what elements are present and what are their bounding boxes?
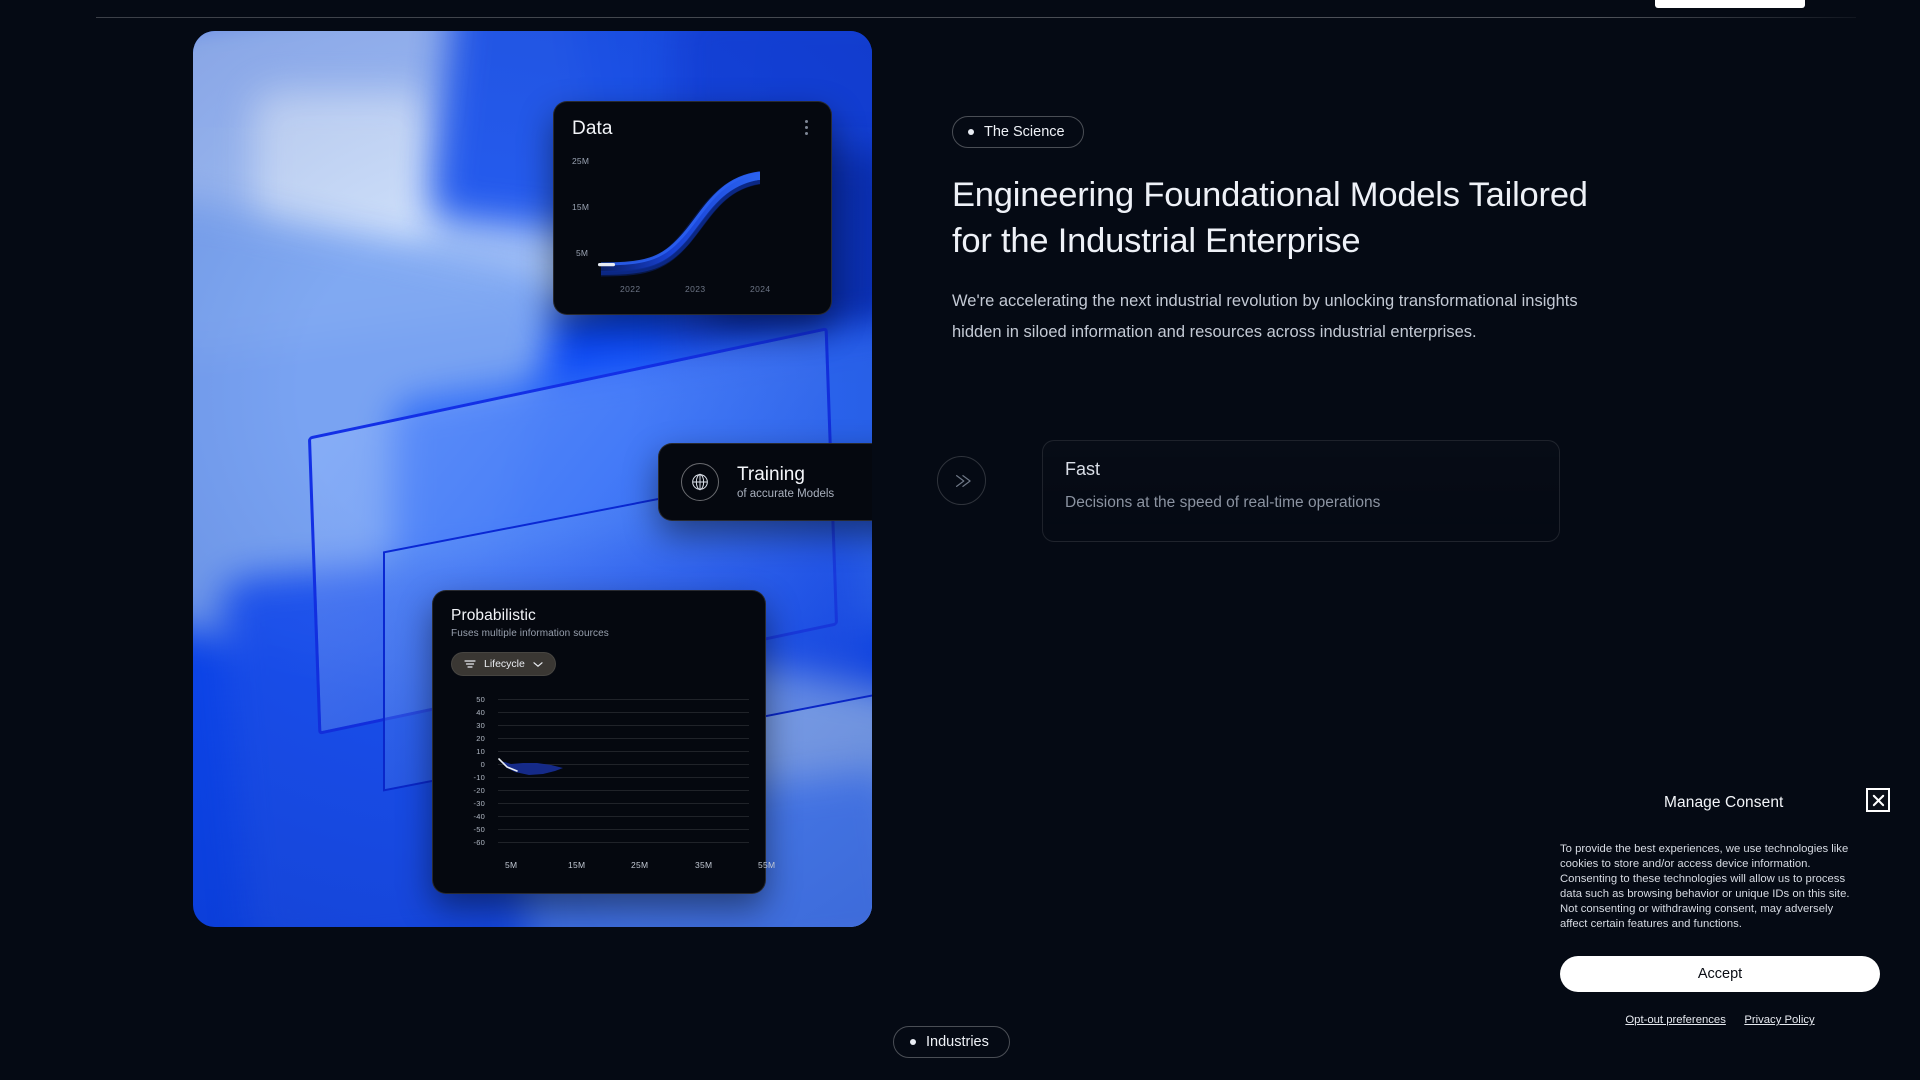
prob-xtick-25m: 25M (631, 860, 648, 870)
opt-out-preferences-link[interactable]: Opt-out preferences (1625, 1014, 1725, 1026)
industries-label: Industries (926, 1034, 989, 1050)
probabilistic-chart: 50 40 30 20 10 0 -10 -20 -30 -40 -50 -60… (433, 695, 767, 885)
prob-xtick-55m: 55M (758, 860, 775, 870)
data-card: Data 25M 15M 5M (553, 101, 832, 315)
section-tag-the-science[interactable]: The Science (952, 116, 1084, 148)
lifecycle-filter-button[interactable]: Lifecycle (451, 652, 556, 676)
globe-icon (681, 463, 719, 501)
data-card-chart: 25M 15M 5M (554, 146, 833, 316)
close-icon[interactable] (1866, 788, 1890, 812)
accept-button[interactable]: Accept (1560, 956, 1880, 992)
prob-xtick-5m: 5M (505, 860, 517, 870)
probabilistic-card-subtitle: Fuses multiple information sources (451, 628, 747, 639)
bullet-dot-icon (910, 1039, 916, 1045)
prob-xtick-15m: 15M (568, 860, 585, 870)
prob-xtick-35m: 35M (695, 860, 712, 870)
page-subcopy: We're accelerating the next industrial r… (952, 286, 1600, 348)
training-card-title: Training (737, 464, 834, 486)
bullet-dot-icon (968, 129, 974, 135)
hero-visual-panel: Data 25M 15M 5M (193, 31, 872, 927)
consent-links: Opt-out preferences Privacy Policy (1560, 1010, 1880, 1028)
data-card-title: Data (572, 118, 813, 140)
kebab-menu-icon[interactable] (799, 117, 813, 137)
feature-card-fast: Fast Decisions at the speed of real-time… (1042, 440, 1560, 542)
data-xtick-2022: 2022 (620, 284, 641, 294)
lifecycle-filter-label: Lifecycle (484, 658, 525, 670)
feature-title: Fast (1065, 459, 1537, 480)
data-xtick-2023: 2023 (685, 284, 706, 294)
consent-body-text: To provide the best experiences, we use … (1560, 842, 1850, 932)
privacy-policy-link[interactable]: Privacy Policy (1744, 1014, 1814, 1026)
probabilistic-card-title: Probabilistic (451, 607, 747, 625)
probabilistic-card: Probabilistic Fuses multiple information… (432, 590, 766, 894)
filter-icon (464, 659, 476, 669)
data-xtick-2024: 2024 (750, 284, 771, 294)
chevron-down-icon (533, 661, 543, 668)
header-divider (96, 17, 1856, 18)
section-tag-industries[interactable]: Industries (893, 1026, 1010, 1058)
feature-description: Decisions at the speed of real-time oper… (1065, 494, 1537, 512)
nav-cta-button[interactable] (1655, 0, 1805, 8)
training-card-subtitle: of accurate Models (737, 488, 834, 500)
fast-forward-icon (937, 456, 986, 505)
prob-series-svg (433, 695, 767, 885)
page-root: Data 25M 15M 5M (0, 0, 1920, 1080)
feature-row-fast: Fast Decisions at the speed of real-time… (952, 440, 1572, 545)
page-title: Engineering Foundational Models Tailored… (952, 172, 1592, 264)
consent-title: Manage Consent (1664, 794, 1783, 812)
training-card: Training of accurate Models (658, 443, 872, 521)
section-tag-label: The Science (984, 124, 1065, 140)
